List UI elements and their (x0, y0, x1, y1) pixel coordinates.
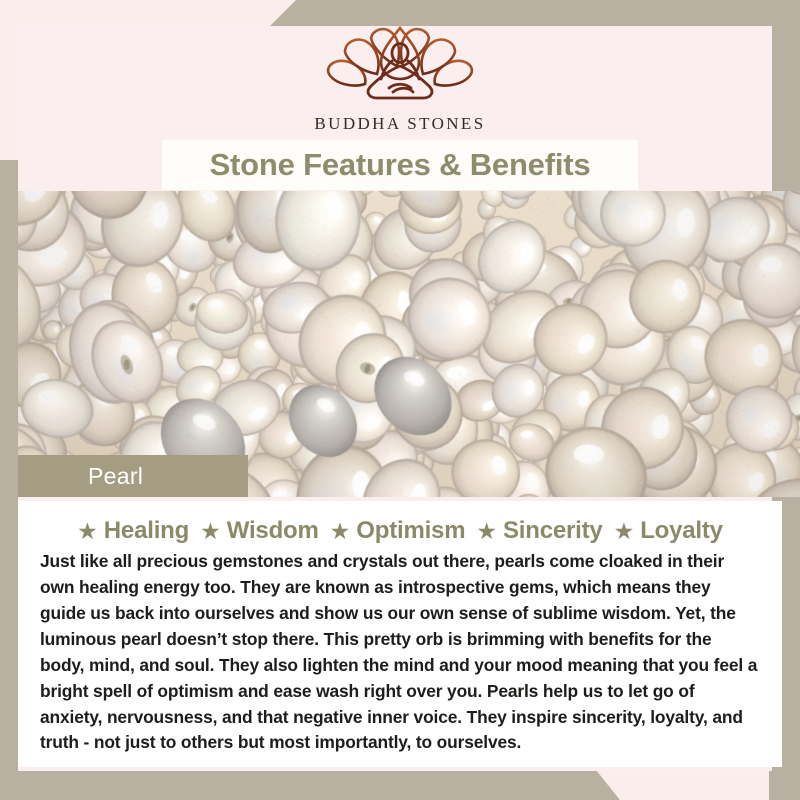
star-icon: ★ (330, 520, 351, 543)
description-panel: ★Healing★Wisdom★Optimism★Sincerity★Loyal… (18, 501, 782, 767)
star-icon: ★ (77, 520, 98, 543)
brand-wordmark: BUDDHA STONES (314, 114, 485, 134)
star-icon: ★ (200, 520, 221, 543)
stone-name-label: Pearl (88, 463, 143, 490)
benefit-label: Optimism (356, 517, 465, 545)
benefit-item: ★Sincerity (468, 517, 602, 545)
lotus-meditation-figure-icon (315, 22, 485, 110)
benefit-item: ★Wisdom (192, 517, 319, 545)
page-title: Stone Features & Benefits (210, 147, 591, 183)
pearl-cluster-photo (18, 191, 800, 497)
benefit-label: Wisdom (227, 517, 319, 545)
page-title-banner: Stone Features & Benefits (162, 140, 638, 190)
pearl-hero-image (18, 191, 800, 497)
benefit-label: Sincerity (503, 517, 603, 545)
benefit-label: Healing (104, 517, 189, 545)
benefit-item: ★Loyalty (606, 517, 723, 545)
benefit-item: ★Optimism (322, 517, 466, 545)
star-icon: ★ (614, 520, 635, 543)
stone-name-chip: Pearl (18, 455, 248, 497)
description-paragraph: Just like all precious gemstones and cry… (40, 549, 760, 756)
benefit-label: Loyalty (640, 517, 723, 545)
brand-logo: BUDDHA STONES (0, 22, 800, 134)
benefit-item: ★Healing (77, 517, 189, 545)
star-icon: ★ (476, 520, 497, 543)
benefits-list: ★Healing★Wisdom★Optimism★Sincerity★Loyal… (40, 517, 760, 545)
stone-features-poster: BUDDHA STONES Stone Features & Benefits … (0, 0, 800, 800)
